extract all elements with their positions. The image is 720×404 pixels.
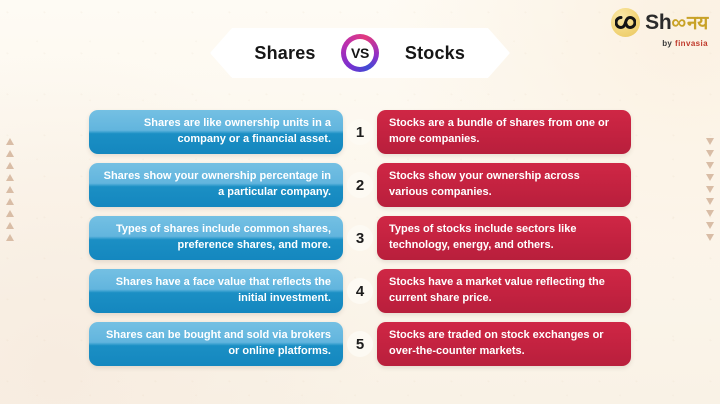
row-number: 1 xyxy=(343,119,377,145)
comparison-row: Shares are like ownership units in a com… xyxy=(0,110,720,154)
row-number: 3 xyxy=(343,225,377,251)
comparison-row: Types of shares include common shares, p… xyxy=(0,216,720,260)
comparison-rows: Shares are like ownership units in a com… xyxy=(0,110,720,366)
row-number-circle: 5 xyxy=(347,331,373,357)
comparison-title-pill: Shares VS Stocks xyxy=(210,28,510,78)
row-number-label: 1 xyxy=(356,124,364,141)
vs-badge: VS xyxy=(341,34,379,72)
comparison-row: Shares have a face value that reflects t… xyxy=(0,269,720,313)
stocks-card: Stocks are a bundle of shares from one o… xyxy=(377,110,631,154)
shares-card: Types of shares include common shares, p… xyxy=(89,216,343,260)
stocks-card: Stocks have a market value reflecting th… xyxy=(377,269,631,313)
row-number: 4 xyxy=(343,278,377,304)
shares-card: Shares have a face value that reflects t… xyxy=(89,269,343,313)
vs-badge-inner: VS xyxy=(346,39,374,67)
row-number-circle: 1 xyxy=(347,119,373,145)
shares-card: Shares are like ownership units in a com… xyxy=(89,110,343,154)
row-number-circle: 4 xyxy=(347,278,373,304)
title-right-label: Stocks xyxy=(383,43,487,64)
comparison-row: Shares can be bought and sold via broker… xyxy=(0,322,720,366)
stocks-card: Stocks are traded on stock exchanges or … xyxy=(377,322,631,366)
row-number-label: 4 xyxy=(356,283,364,300)
row-number-label: 3 xyxy=(356,230,364,247)
row-number-circle: 2 xyxy=(347,172,373,198)
row-number-circle: 3 xyxy=(347,225,373,251)
stocks-card: Types of stocks include sectors like tec… xyxy=(377,216,631,260)
row-number: 2 xyxy=(343,172,377,198)
comparison-row: Shares show your ownership percentage in… xyxy=(0,163,720,207)
row-number: 5 xyxy=(343,331,377,357)
vs-label: VS xyxy=(351,45,369,61)
stocks-card: Stocks show your ownership across variou… xyxy=(377,163,631,207)
header: Shares VS Stocks xyxy=(0,28,720,78)
shares-card: Shares show your ownership percentage in… xyxy=(89,163,343,207)
row-number-label: 5 xyxy=(356,336,364,353)
shares-card: Shares can be bought and sold via broker… xyxy=(89,322,343,366)
title-left-label: Shares xyxy=(233,43,337,64)
row-number-label: 2 xyxy=(356,177,364,194)
